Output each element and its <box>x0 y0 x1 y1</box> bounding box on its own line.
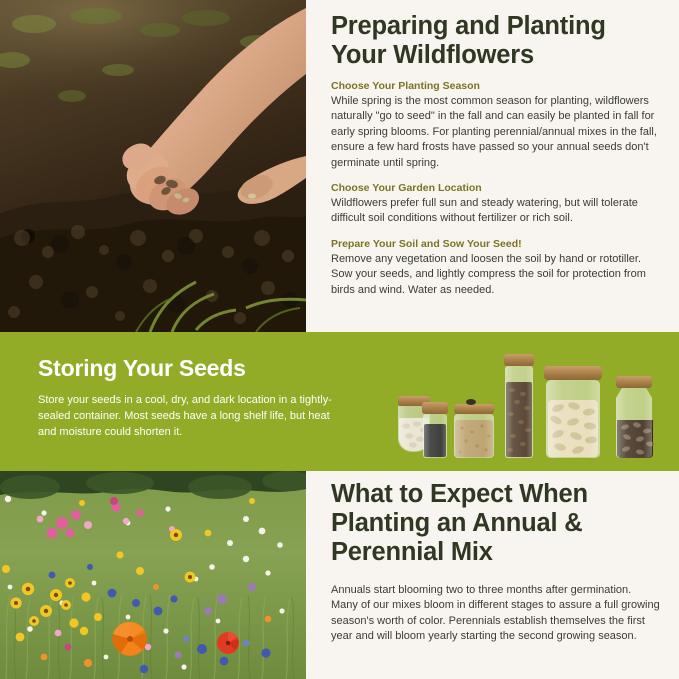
body-garden-location: Wildflowers prefer full sun and steady w… <box>331 196 665 227</box>
section-storing-seeds: Storing Your Seeds Store your seeds in a… <box>0 332 679 471</box>
soil-planting-photo <box>0 0 306 332</box>
preparing-text-column: Preparing and Planting Your Wildflowers … <box>331 0 679 332</box>
seed-jars-photo <box>378 344 674 466</box>
body-planting-season: While spring is the most common season f… <box>331 94 665 171</box>
page-title: Preparing and Planting Your Wildflowers <box>331 12 665 70</box>
expect-text-column: What to Expect When Planting an Annual &… <box>331 471 679 679</box>
expect-body: Annuals start blooming two to three mont… <box>331 583 661 645</box>
subheading-garden-location: Choose Your Garden Location <box>331 181 665 195</box>
subheading-prepare-soil: Prepare Your Soil and Sow Your Seed! <box>331 237 665 251</box>
expect-heading: What to Expect When Planting an Annual &… <box>331 480 661 567</box>
wildflower-meadow-photo <box>0 471 306 679</box>
body-prepare-soil: Remove any vegetation and loosen the soi… <box>331 252 665 298</box>
storing-text-column: Storing Your Seeds Store your seeds in a… <box>38 354 338 440</box>
storing-body: Store your seeds in a cool, dry, and dar… <box>38 392 338 440</box>
subheading-planting-season: Choose Your Planting Season <box>331 79 665 93</box>
infographic-page: Preparing and Planting Your Wildflowers … <box>0 0 679 679</box>
storing-heading: Storing Your Seeds <box>38 354 338 382</box>
section-preparing-planting: Preparing and Planting Your Wildflowers … <box>0 0 679 332</box>
section-what-to-expect: What to Expect When Planting an Annual &… <box>0 471 679 679</box>
